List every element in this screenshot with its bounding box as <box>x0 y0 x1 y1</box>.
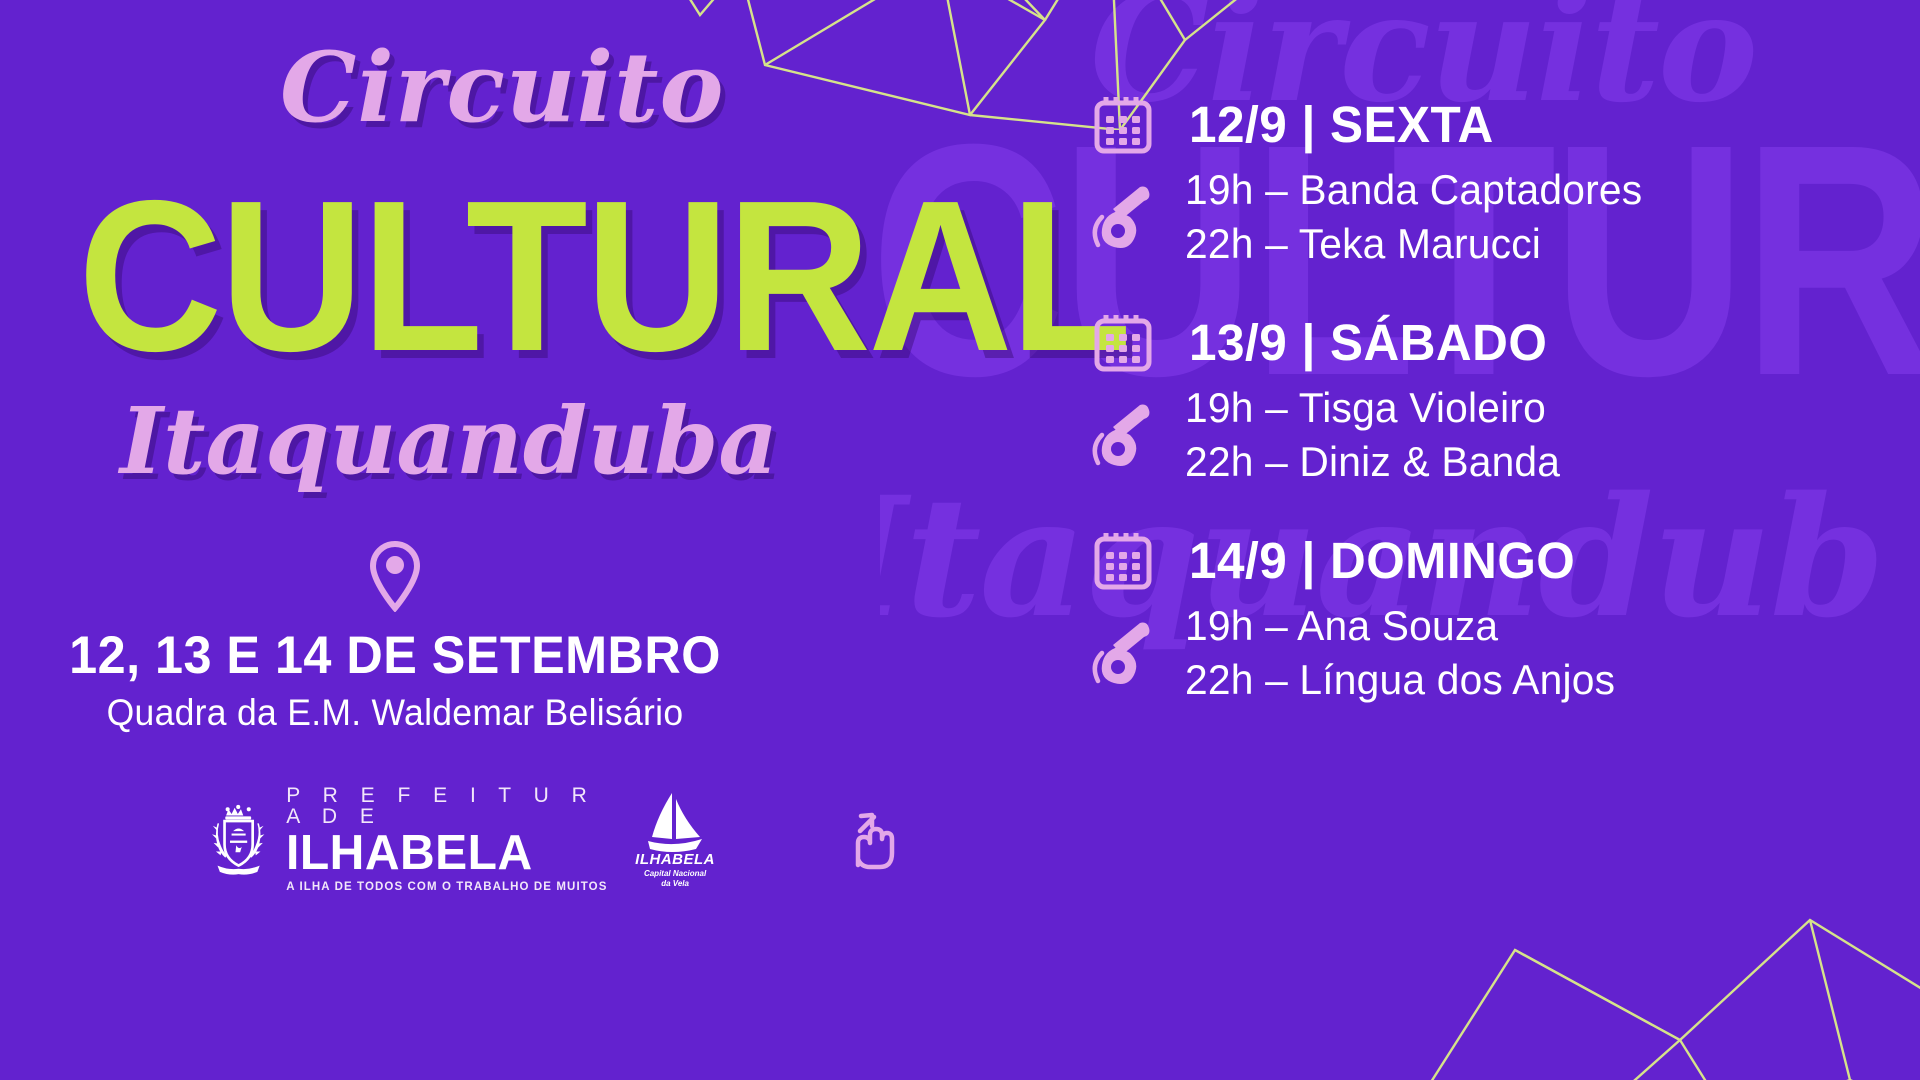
calendar-icon <box>1085 528 1161 592</box>
act-line: 19h – Banda Captadores <box>1185 166 1642 214</box>
coat-of-arms-icon <box>205 793 272 885</box>
day-title: 13/9 | SÁBADO <box>1189 313 1547 372</box>
guitar-icon <box>1085 397 1161 473</box>
event-venue: Quadra da E.M. Waldemar Belisário <box>16 692 774 734</box>
acts-text: 19h – Ana Souza 22h – Língua dos Anjos <box>1185 602 1628 704</box>
day-heading-row: 13/9 | SÁBADO <box>1085 310 1875 374</box>
poster-left-column: Circuito CULTURAL Itaquanduba 12, 13 E 1… <box>0 0 900 1080</box>
day-title: 12/9 | SEXTA <box>1189 95 1494 154</box>
vela-subtitle-line2: da Vela <box>661 879 689 888</box>
prefeitura-line1: P R E F E I T U R A D E <box>286 785 613 827</box>
day-title: 14/9 | DOMINGO <box>1189 531 1575 590</box>
schedule-list: 12/9 | SEXTA 19h <box>1085 92 1875 746</box>
schedule-day-block: 12/9 | SEXTA 19h <box>1085 92 1875 268</box>
location-pin-wrapper <box>0 540 790 617</box>
act-line: 19h – Tisga Violeiro <box>1185 384 1560 432</box>
day-acts-row: 19h – Tisga Violeiro 22h – Diniz & Banda <box>1085 384 1875 486</box>
prefeitura-text: P R E F E I T U R A D E ILHABELA A ILHA … <box>286 785 613 894</box>
guitar-icon <box>1085 179 1161 255</box>
cursor-wrapper <box>838 805 900 882</box>
day-acts-row: 19h – Banda Captadores 22h – Teka Marucc… <box>1085 166 1875 268</box>
calendar-icon <box>1085 92 1161 156</box>
schedule-day-block: 13/9 | SÁBADO 19h <box>1085 310 1875 486</box>
day-heading-row: 12/9 | SEXTA <box>1085 92 1875 156</box>
calendar-icon <box>1085 310 1161 374</box>
day-heading-row: 14/9 | DOMINGO <box>1085 528 1875 592</box>
map-pin-icon <box>369 540 421 612</box>
vela-logo: ILHABELA Capital Nacional da Vela <box>635 791 715 888</box>
prefeitura-line2: ILHABELA <box>286 829 606 878</box>
title-script-bottom: Itaquanduba <box>120 395 778 487</box>
hand-cursor-icon[interactable] <box>838 805 900 877</box>
vela-name: ILHABELA <box>635 851 715 868</box>
vela-subtitle-line1: Capital Nacional <box>644 869 706 878</box>
prefeitura-logo: P R E F E I T U R A D E ILHABELA A ILHA … <box>205 785 613 894</box>
act-line: 22h – Língua dos Anjos <box>1185 656 1615 704</box>
event-dates: 12, 13 E 14 DE SETEMBRO <box>20 625 771 686</box>
day-acts-row: 19h – Ana Souza 22h – Língua dos Anjos <box>1085 602 1875 704</box>
logo-row: P R E F E I T U R A D E ILHABELA A ILHA … <box>205 785 900 894</box>
prefeitura-tagline: A ILHA DE TODOS COM O TRABALHO DE MUITOS <box>286 882 613 894</box>
polygon-decoration-bottom <box>1380 890 1920 1080</box>
guitar-icon <box>1085 615 1161 691</box>
act-line: 22h – Diniz & Banda <box>1185 438 1560 486</box>
schedule-day-block: 14/9 | DOMINGO 19 <box>1085 528 1875 704</box>
acts-text: 19h – Banda Captadores 22h – Teka Marucc… <box>1185 166 1656 268</box>
event-poster: Circuito CULTURA Itaquandub Circuito CUL… <box>0 0 1920 1080</box>
sailboat-icon <box>642 791 708 853</box>
acts-text: 19h – Tisga Violeiro 22h – Diniz & Banda <box>1185 384 1572 486</box>
title-script-top: Circuito <box>280 40 725 136</box>
page-title: CULTURAL <box>78 168 1129 383</box>
act-line: 22h – Teka Marucci <box>1185 220 1642 268</box>
act-line: 19h – Ana Souza <box>1185 602 1615 650</box>
